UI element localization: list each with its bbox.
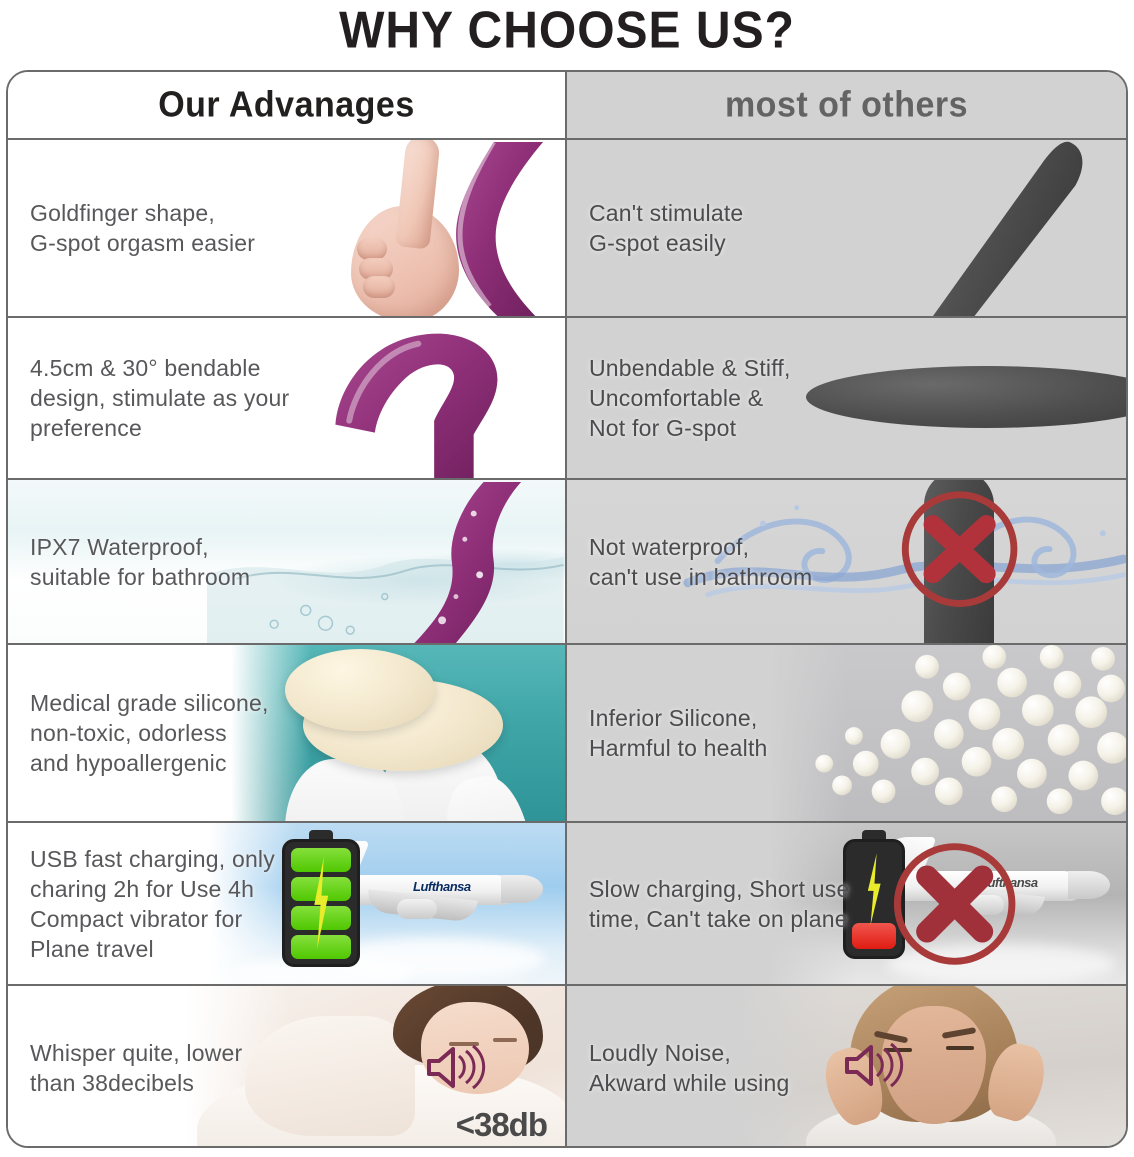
cell-others-gspot: Can't stimulate G-spot easily: [567, 140, 1126, 316]
header-cell-others: most of others: [567, 72, 1126, 138]
cell-others-silicone: Inferior Silicone, Harmful to health: [567, 645, 1126, 821]
row-text-others: Not waterproof, can't use in bathroom: [567, 532, 812, 592]
row-text-ours: 4.5cm & 30° bendable design, stimulate a…: [8, 353, 289, 443]
column-header-others: most of others: [725, 85, 968, 126]
comparison-table: Our Advanages most of others: [6, 70, 1128, 1148]
table-header-row: Our Advanages most of others: [8, 72, 1126, 140]
cell-others-bendable: Unbendable & Stiff, Uncomfortable & Not …: [567, 318, 1126, 478]
cell-ours-bendable: 4.5cm & 30° bendable design, stimulate a…: [8, 318, 567, 478]
row-text-ours: Medical grade silicone, non-toxic, odorl…: [8, 688, 269, 778]
table-row: <38db Whisper quite, lower than 38decibe…: [8, 986, 1126, 1148]
row-text-others: Inferior Silicone, Harmful to health: [567, 703, 768, 763]
table-row: IPX7 Waterproof, suitable for bathroom: [8, 480, 1126, 645]
row-text-others: Unbendable & Stiff, Uncomfortable & Not …: [567, 353, 791, 443]
row-text-others: Slow charging, Short use time, Can't tak…: [567, 874, 850, 934]
table-row: Goldfinger shape, G-spot orgasm easier: [8, 140, 1126, 318]
row-text-ours: USB fast charging, only charing 2h for U…: [8, 844, 275, 964]
row-text-ours: IPX7 Waterproof, suitable for bathroom: [8, 532, 250, 592]
comparison-infographic: WHY CHOOSE US? Our Advanages most of oth…: [0, 0, 1134, 1157]
table-row: 4.5cm & 30° bendable design, stimulate a…: [8, 318, 1126, 480]
cell-ours-waterproof: IPX7 Waterproof, suitable for bathroom: [8, 480, 567, 643]
cell-ours-silicone: Medical grade silicone, non-toxic, odorl…: [8, 645, 567, 821]
row-text-ours: Whisper quite, lower than 38decibels: [8, 1038, 242, 1098]
page-title: WHY CHOOSE US?: [0, 0, 1134, 67]
cell-others-charging: Lufthansa: [567, 823, 1126, 984]
row-text-others: Can't stimulate G-spot easily: [567, 198, 743, 258]
cell-ours-charging: Lufthansa USB fast charging, o: [8, 823, 567, 984]
cell-others-noise: Loudly Noise, Akward while using: [567, 986, 1126, 1148]
table-row: Lufthansa USB fast charging, o: [8, 823, 1126, 986]
header-cell-ours: Our Advanages: [8, 72, 567, 138]
row-text-others: Loudly Noise, Akward while using: [567, 1038, 789, 1098]
cell-ours-noise: <38db Whisper quite, lower than 38decibe…: [8, 986, 567, 1148]
column-header-ours: Our Advanages: [158, 85, 415, 126]
row-text-ours: Goldfinger shape, G-spot orgasm easier: [8, 198, 255, 258]
table-row: Medical grade silicone, non-toxic, odorl…: [8, 645, 1126, 823]
cell-ours-gspot: Goldfinger shape, G-spot orgasm easier: [8, 140, 567, 316]
cell-others-waterproof: Not waterproof, can't use in bathroom: [567, 480, 1126, 643]
